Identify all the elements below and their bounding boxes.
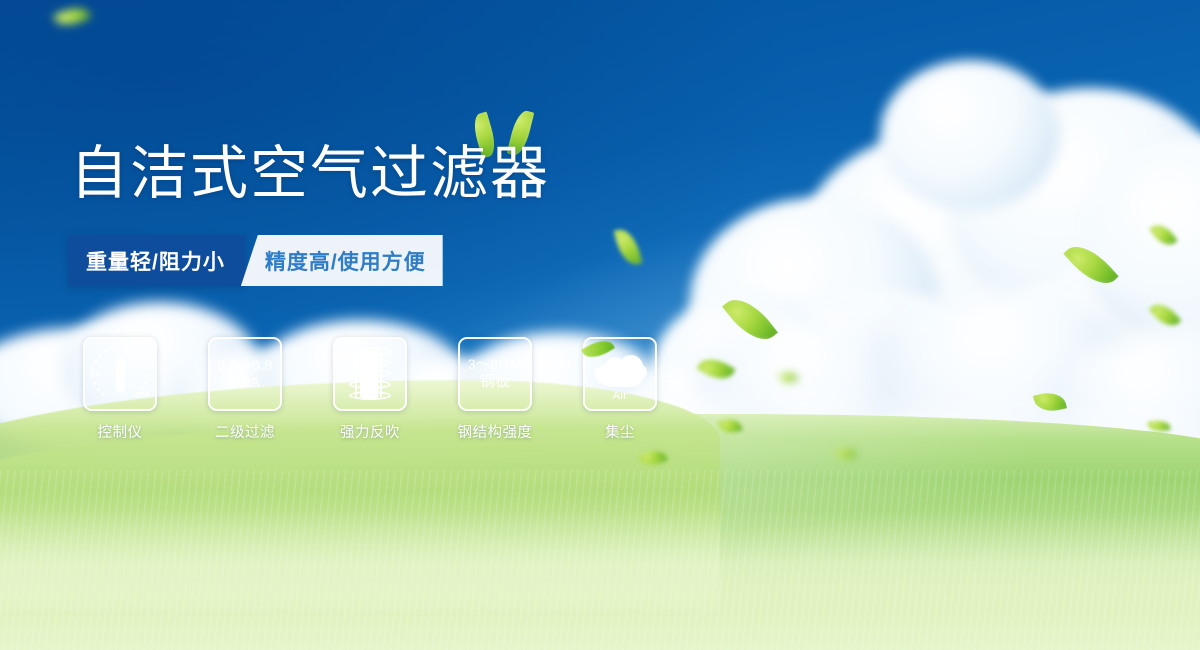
steel-plate-text-icon: 3～8MM: [468, 356, 522, 373]
air-label: Air: [591, 390, 649, 402]
air-cloud-icon: Air: [591, 351, 649, 397]
feature-label: 强力反吹: [340, 421, 400, 442]
feature-item-controller[interactable]: NO OFF 控制仪: [83, 337, 157, 442]
product-hero-banner: 自洁式空气过滤器 重量轻/阻力小 精度高/使用方便: [0, 0, 1200, 650]
feature-item-steel-strength[interactable]: 3～8MM 钢板 钢结构强度: [458, 337, 532, 442]
pressure-unit-text: MPA: [230, 374, 260, 391]
pressure-text-icon: 0.6～0.8: [217, 357, 272, 374]
gauge-label-off: OFF: [135, 392, 150, 399]
feature-item-dust-collection[interactable]: Air 集尘: [583, 337, 657, 442]
filter-cartridge-icon: [345, 347, 395, 401]
page-title: 自洁式空气过滤器: [70, 143, 550, 204]
gauge-needle: [116, 358, 125, 392]
feature-icon-box: 0.6～0.8 MPA: [208, 337, 282, 411]
feature-icon-box: 3～8MM 钢板: [458, 337, 532, 411]
gauge-label-no: NO: [90, 371, 101, 378]
feature-icon-box: Air: [583, 337, 657, 411]
feature-list: NO OFF 控制仪 0.6～0.8 MPA 二级过滤: [83, 337, 657, 442]
feature-label: 钢结构强度: [458, 421, 533, 442]
feature-item-secondary-filtration[interactable]: 0.6～0.8 MPA 二级过滤: [208, 337, 282, 442]
feature-item-backblow[interactable]: 强力反吹: [333, 337, 407, 442]
subtitle-segment-right: 精度高/使用方便: [241, 235, 443, 286]
feature-icon-box: [333, 337, 407, 411]
grass-texture: [0, 470, 1200, 650]
subtitle-segment-left: 重量轻/阻力小: [68, 235, 245, 286]
steel-plate-unit-text: 钢板: [480, 373, 511, 391]
feature-label: 二级过滤: [215, 421, 275, 442]
feature-label: 集尘: [605, 421, 635, 442]
feature-icon-box: NO OFF: [83, 337, 157, 411]
feature-label: 控制仪: [98, 421, 143, 442]
gauge-dial-icon: NO OFF: [91, 347, 149, 401]
subtitle-bar: 重量轻/阻力小 精度高/使用方便: [68, 235, 443, 286]
